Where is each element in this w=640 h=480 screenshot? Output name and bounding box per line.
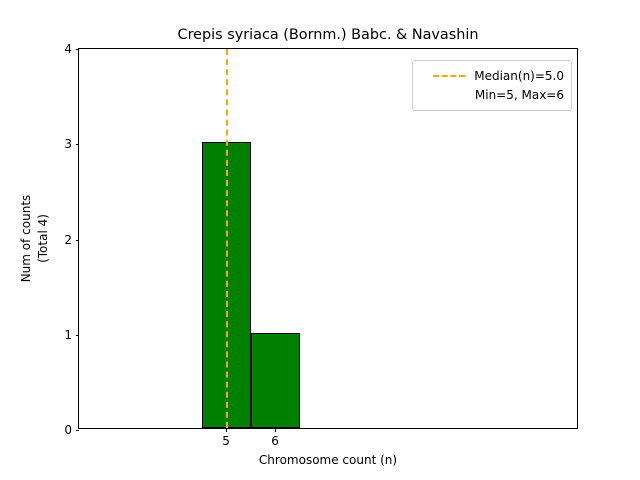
y-tick-mark-0 — [76, 430, 80, 431]
y-tick-mark-2 — [76, 240, 80, 241]
y-tick-label-3: 3 — [64, 138, 72, 150]
x-axis-label: Chromosome count (n) — [78, 453, 578, 467]
chart-title: Crepis syriaca (Bornm.) Babc. & Navashin — [78, 27, 578, 44]
legend-box: Median(n)=5.0 Min=5, Max=6 — [412, 60, 572, 111]
y-tick-label-2: 2 — [64, 234, 72, 246]
x-tick-mark-6 — [275, 428, 276, 432]
y-tick-label-1: 1 — [64, 329, 72, 341]
y-tick-mark-4 — [76, 49, 80, 50]
y-tick-label-0: 0 — [64, 424, 72, 436]
legend-entry-minmax: Min=5, Max=6 — [420, 85, 564, 104]
y-axis-label-line-2: (Total 4) — [35, 48, 52, 429]
y-tick-mark-1 — [76, 335, 80, 336]
median-line — [226, 49, 228, 428]
y-axis-label: Num of counts (Total 4) — [18, 48, 52, 429]
legend-label-median: Median(n)=5.0 — [474, 69, 564, 83]
legend-label-minmax: Min=5, Max=6 — [475, 88, 564, 102]
y-tick-label-4: 4 — [64, 43, 72, 55]
y-axis-label-line-1: Num of counts — [18, 48, 35, 429]
x-tick-mark-5 — [226, 428, 227, 432]
y-tick-mark-3 — [76, 144, 80, 145]
figure-canvas: Crepis syriaca (Bornm.) Babc. & Navashin… — [0, 0, 640, 480]
x-tick-label-5: 5 — [222, 434, 230, 448]
bar-6 — [251, 333, 300, 428]
legend-entry-median: Median(n)=5.0 — [420, 66, 564, 85]
x-tick-label-6: 6 — [271, 434, 279, 448]
dashed-line-icon — [433, 75, 465, 77]
